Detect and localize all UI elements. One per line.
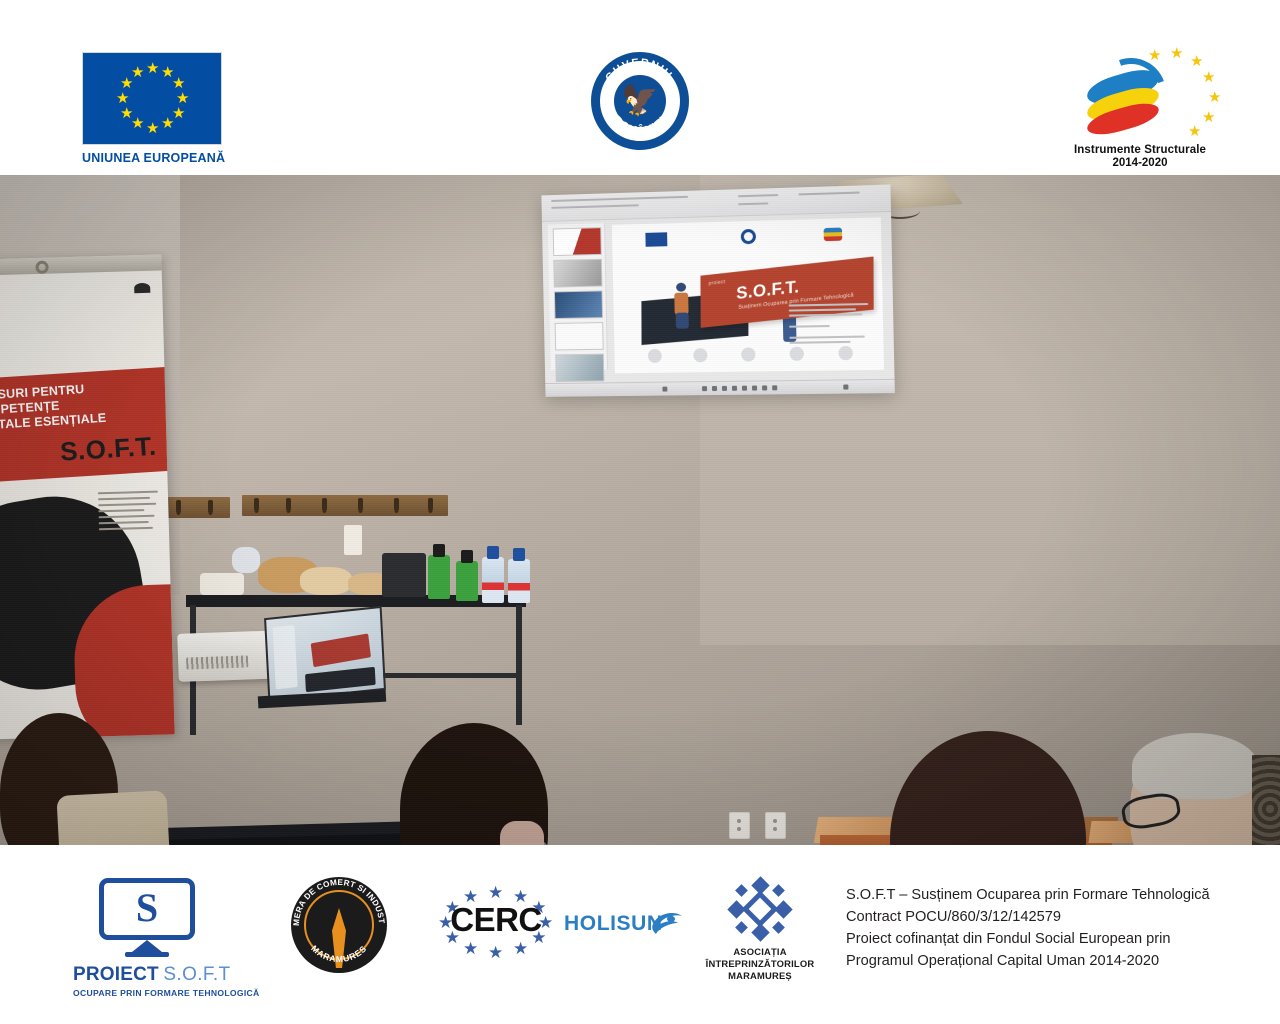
slide-thumbnail <box>553 227 602 256</box>
cerc-star-icon: ★ <box>463 940 478 957</box>
table-leg <box>516 605 522 725</box>
slide-thumbnail <box>555 322 604 350</box>
eu-star-icon: ★ <box>1202 110 1215 125</box>
project-info-line2: Contract POCU/860/3/12/142579 <box>846 906 1266 928</box>
power-outlet <box>765 812 786 839</box>
eu-caption: UNIUNEA EUROPEANĂ <box>82 151 222 165</box>
slide-logo-row <box>645 226 846 247</box>
slide-banner-label: proiect <box>708 279 725 287</box>
project-info-line1: S.O.F.T – Susținem Ocuparea prin Formare… <box>846 884 1266 906</box>
eu-flag-field <box>82 52 222 145</box>
coat-hook <box>208 500 213 515</box>
slide-illustration-person <box>676 313 689 329</box>
holisun-logo: HOLISUN <box>564 906 684 940</box>
cci-ring-text: CAMERA DE COMERT SI INDUSTRIE MARAMURES <box>291 877 387 973</box>
eu-star-icon: ★ <box>1170 46 1183 61</box>
european-union-flag: UNIUNEA EUROPEANĂ <box>82 52 222 165</box>
bottle-cap <box>461 550 473 563</box>
coat-hook <box>322 498 327 513</box>
coat-hook <box>176 500 181 515</box>
coat-hook <box>358 498 363 513</box>
motif-point <box>751 876 769 894</box>
slide-partner-icon <box>741 347 755 361</box>
slide-gov-seal-icon <box>741 229 756 244</box>
motif-point <box>772 884 785 897</box>
bottle-cap <box>433 544 445 557</box>
swoosh-icon <box>650 907 684 937</box>
motif-point <box>774 900 792 918</box>
projection-screen: proiect S.O.F.T. Susținem Ocuparea prin … <box>541 184 894 396</box>
structural-instruments-logo: ★★★★★★★ Instrumente Structurale 2014-202… <box>1062 44 1218 169</box>
training-session-photograph: proiect S.O.F.T. Susținem Ocuparea prin … <box>0 175 1280 845</box>
proiect-soft-title-light: S.O.F.T <box>163 964 230 985</box>
current-slide: proiect S.O.F.T. Susținem Ocuparea prin … <box>612 217 884 373</box>
romanian-motif-icon <box>729 878 791 940</box>
eu-star-icon: ★ <box>1202 70 1215 85</box>
person-hair <box>1132 733 1258 799</box>
water-bottle <box>482 557 504 603</box>
coffee-urn <box>382 553 426 597</box>
slide-thumbnail-panel <box>548 223 608 370</box>
slide-partner-icons <box>644 346 866 367</box>
slide-thumbnail <box>554 290 603 319</box>
cerc-star-icon: ★ <box>513 940 528 957</box>
project-info-text: S.O.F.T – Susținem Ocuparea prin Formare… <box>846 884 1266 972</box>
svg-text:ROMÂNIEI: ROMÂNIEI <box>610 114 669 137</box>
drink-bottle-green <box>456 561 478 601</box>
motif-point <box>751 923 769 941</box>
soft-logo-letter: S <box>136 888 158 928</box>
si-caption-line1: Instrumente Structurale <box>1062 144 1218 156</box>
presenter-laptop-screen <box>264 606 386 702</box>
pastry <box>300 567 352 595</box>
slide-thumbnail <box>555 354 604 382</box>
rollup-partner-icon <box>134 283 150 293</box>
rollup-ring <box>35 261 48 274</box>
slide-eu-flag-icon <box>645 232 667 246</box>
coat-hook-rail-large <box>242 495 448 516</box>
monitor-icon: S <box>99 878 195 940</box>
coat-hook <box>254 498 259 513</box>
laptop-slide-banner <box>311 633 371 667</box>
slide-partner-icon <box>648 349 662 363</box>
eu-star-icon: ★ <box>1148 48 1161 63</box>
coat-hook <box>428 498 433 513</box>
svg-text:MARAMURES: MARAMURES <box>309 943 368 964</box>
asociatia-line3: MARAMUREȘ <box>702 970 818 982</box>
coat-hook <box>394 498 399 513</box>
svg-text:GUVERNUL: GUVERNUL <box>603 57 677 84</box>
coat-hook <box>286 498 291 513</box>
food-tray <box>200 573 244 595</box>
si-caption-line2: 2014-2020 <box>1062 157 1218 169</box>
eu-star-icon: ★ <box>1188 124 1201 139</box>
structural-instruments-mark: ★★★★★★★ <box>1062 44 1218 142</box>
slide-illustration-person <box>676 283 686 292</box>
slide-partner-icon <box>790 347 804 361</box>
projector-vent <box>186 655 248 669</box>
rollup-body-text <box>98 491 161 535</box>
proiect-soft-logo: S PROIECT S.O.F.T OCUPARE PRIN FORMARE T… <box>73 878 221 998</box>
motif-point <box>727 900 745 918</box>
project-info-line4: Programul Operațional Capital Uman 2014-… <box>846 950 1266 972</box>
slide-structural-instruments-icon <box>824 228 843 242</box>
asociatia-line1: ASOCIAȚIA <box>702 946 818 958</box>
camera-de-comert-maramures-logo: CAMERA DE COMERT SI INDUSTRIE MARAMURES <box>291 877 387 973</box>
slide-partner-icon <box>693 348 707 362</box>
svg-text:CAMERA DE COMERT SI INDUSTRIE: CAMERA DE COMERT SI INDUSTRIE <box>291 877 386 926</box>
office-chair <box>56 790 173 845</box>
cerc-star-icon: ★ <box>488 944 503 961</box>
rollup-banner: CURSURI PENTRU COMPETENȚE DIGITALE ESENȚ… <box>0 254 175 739</box>
bottle-cap <box>513 548 525 561</box>
person-torso <box>1252 755 1280 845</box>
motif-point <box>735 921 748 934</box>
person-hand <box>500 821 544 845</box>
slide-illustration-person <box>674 293 688 315</box>
cerc-logo: ★★★★★★★★★★★★ CERC <box>437 884 555 956</box>
slide-thumbnail <box>553 259 602 288</box>
monitor-stand <box>132 940 162 952</box>
header-band: UNIUNEA EUROPEANĂ 🦅 GUVERNUL ROMÂNIEI <box>0 0 1280 175</box>
proiect-soft-subtitle: OCUPARE PRIN FORMARE TEHNOLOGICĂ <box>73 988 221 998</box>
asociatia-intreprinzatorilor-maramures-logo: ASOCIAȚIA ÎNTREPRINZĂTORILOR MARAMUREȘ <box>702 878 818 982</box>
rollup-headline: CURSURI PENTRU COMPETENȚE DIGITALE ESENȚ… <box>0 377 162 434</box>
power-outlet <box>729 812 750 839</box>
proiect-soft-title: PROIECT S.O.F.T <box>73 964 221 986</box>
rollup-top-bar <box>0 254 162 275</box>
asociatia-name: ASOCIAȚIA ÎNTREPRINZĂTORILOR MARAMUREȘ <box>702 946 818 982</box>
coat-hook-rail-small <box>168 497 230 518</box>
eu-star-icon: ★ <box>1208 90 1221 105</box>
monitor-foot <box>125 952 169 957</box>
gov-seal-ring-text: GUVERNUL ROMÂNIEI <box>591 52 689 150</box>
government-of-romania-seal: 🦅 GUVERNUL ROMÂNIEI <box>591 52 689 150</box>
project-info-line3: Proiect cofinanțat din Fondul Social Eur… <box>846 928 1266 950</box>
eu-star-icon: ★ <box>1190 54 1203 69</box>
asociatia-line2: ÎNTREPRINZĂTORILOR <box>702 958 818 970</box>
cerc-star-icon: ★ <box>488 884 503 901</box>
rollup-title: S.O.F.T. <box>59 431 157 468</box>
bottle-cap <box>487 546 499 559</box>
drink-bottle-green <box>428 555 450 599</box>
holisun-wordmark: HOLISUN <box>564 912 663 936</box>
rollup-red-band: CURSURI PENTRU COMPETENȚE DIGITALE ESENȚ… <box>0 367 174 484</box>
slide-body-text <box>789 303 869 347</box>
proiect-soft-title-bold: PROIECT <box>73 964 159 985</box>
water-bottle <box>508 559 530 603</box>
cerc-wordmark: CERC <box>450 901 542 939</box>
snack-bag <box>232 547 260 573</box>
slide-partner-icon <box>838 346 853 360</box>
motif-point <box>735 884 748 897</box>
motif-point <box>772 921 785 934</box>
cup-stack <box>344 525 362 555</box>
